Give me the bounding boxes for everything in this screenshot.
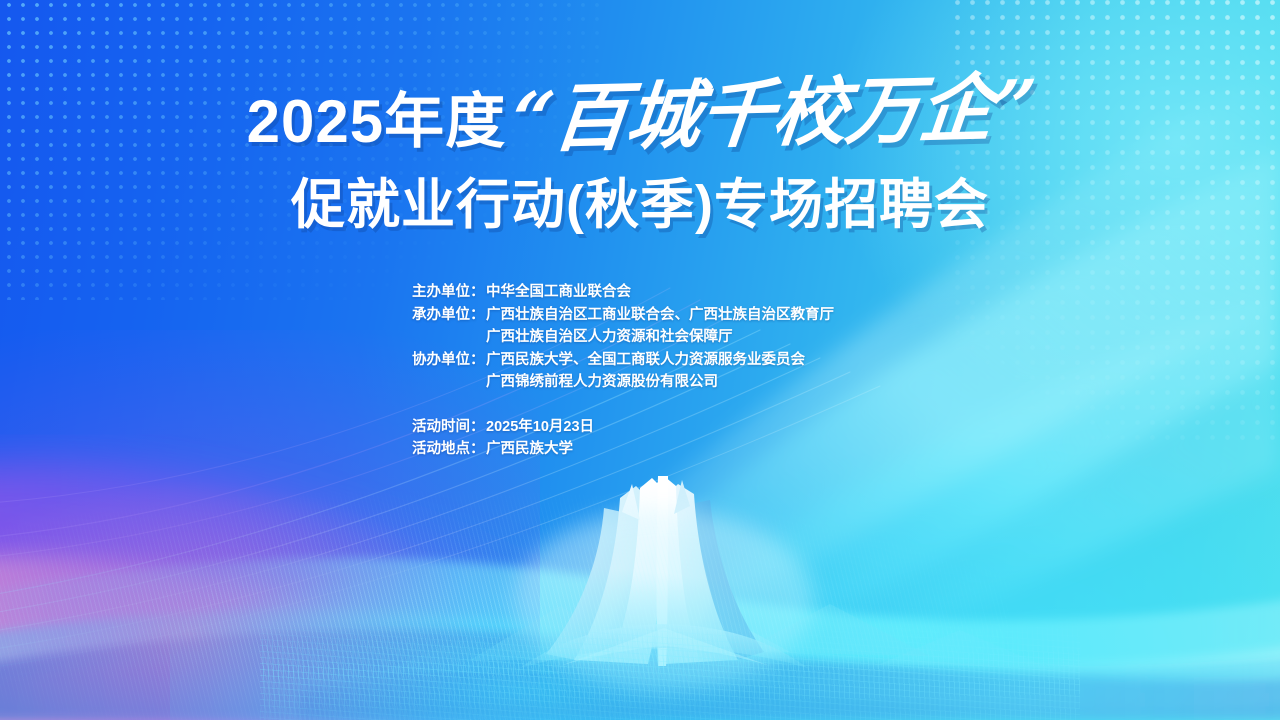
info-row-supporter: 协办单位： 广西民族大学、全国工商联人力资源服务业委员会 xyxy=(412,349,834,372)
time-value: 2025年10月23日 xyxy=(486,416,594,439)
co-organizer-value-line2: 广西壮族自治区人力资源和社会保障厅 xyxy=(412,326,834,349)
info-row-organizer: 主办单位： 中华全国工商业联合会 xyxy=(412,281,834,304)
co-organizer-label: 承办单位： xyxy=(412,304,486,327)
time-label: 活动时间： xyxy=(412,416,486,439)
organizer-value: 中华全国工商业联合会 xyxy=(486,281,631,304)
event-info-block: 主办单位： 中华全国工商业联合会 承办单位： 广西壮族自治区工商业联合会、广西壮… xyxy=(412,281,834,461)
place-label: 活动地点： xyxy=(412,438,486,461)
supporter-label: 协办单位： xyxy=(412,349,486,372)
info-row-time: 活动时间： 2025年10月23日 xyxy=(412,416,834,439)
organizer-label: 主办单位： xyxy=(412,281,486,304)
info-row-place: 活动地点： 广西民族大学 xyxy=(412,438,834,461)
supporter-value-line2: 广西锦绣前程人力资源股份有限公司 xyxy=(412,371,834,394)
tower-glow xyxy=(514,510,814,690)
info-row-co-organizer: 承办单位： 广西壮族自治区工商业联合会、广西壮族自治区教育厅 xyxy=(412,304,834,327)
co-organizer-value: 广西壮族自治区工商业联合会、广西壮族自治区教育厅 xyxy=(486,304,834,327)
poster-canvas: 2025年度 “百城千校万企” 促就业行动(秋季)专场招聘会 主办单位： 中华全… xyxy=(0,0,1280,720)
supporter-value: 广西民族大学、全国工商联人力资源服务业委员会 xyxy=(486,349,805,372)
info-spacer xyxy=(412,394,834,416)
place-value: 广西民族大学 xyxy=(486,438,573,461)
